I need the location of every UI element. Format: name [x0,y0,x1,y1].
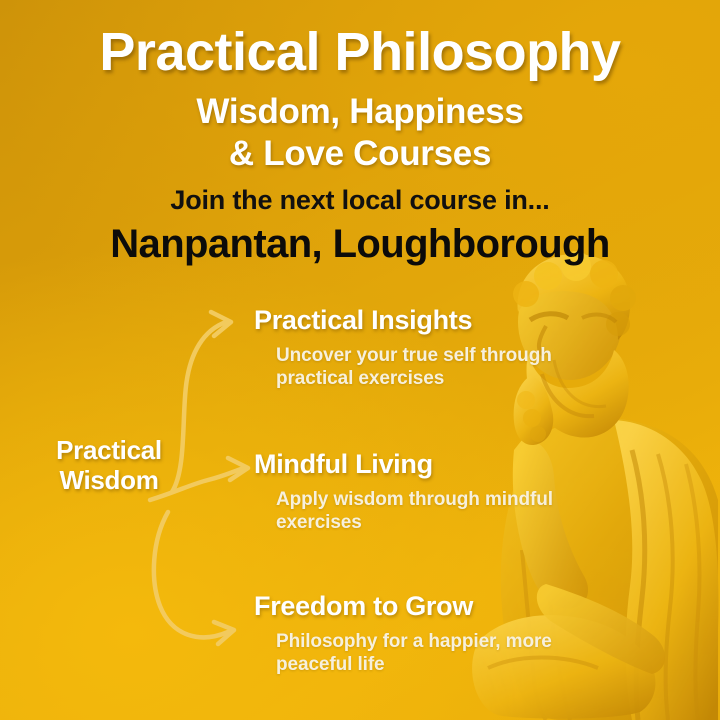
feature-description: Philosophy for a happier, more peaceful … [276,630,621,676]
feature-item: Freedom to Grow Philosophy for a happier… [254,592,654,676]
feature-description: Apply wisdom through mindful exercises [276,488,621,534]
subtitle-line-1: Wisdom, Happiness [0,91,720,132]
feature-item: Practical Insights Uncover your true sel… [254,306,654,390]
feature-item: Mindful Living Apply wisdom through mind… [254,450,654,534]
kicker-text: Join the next local course in... [0,186,720,216]
feature-description: Uncover your true self through practical… [276,344,621,390]
page-title: Practical Philosophy [0,0,720,81]
location-text: Nanpantan, Loughborough [0,222,720,266]
feature-title: Mindful Living [254,450,654,480]
headline-group: Practical Philosophy Wisdom, Happiness &… [0,0,720,266]
pillar-label: Practical Wisdom [24,436,194,496]
pillar-label-line-1: Practical [24,436,194,466]
subtitle-line-2: & Love Courses [0,133,720,174]
pillar-label-line-2: Wisdom [24,466,194,496]
feature-title: Practical Insights [254,306,654,336]
feature-title: Freedom to Grow [254,592,654,622]
poster-canvas: Practical Philosophy Wisdom, Happiness &… [0,0,720,720]
subtitle: Wisdom, Happiness & Love Courses [0,91,720,174]
